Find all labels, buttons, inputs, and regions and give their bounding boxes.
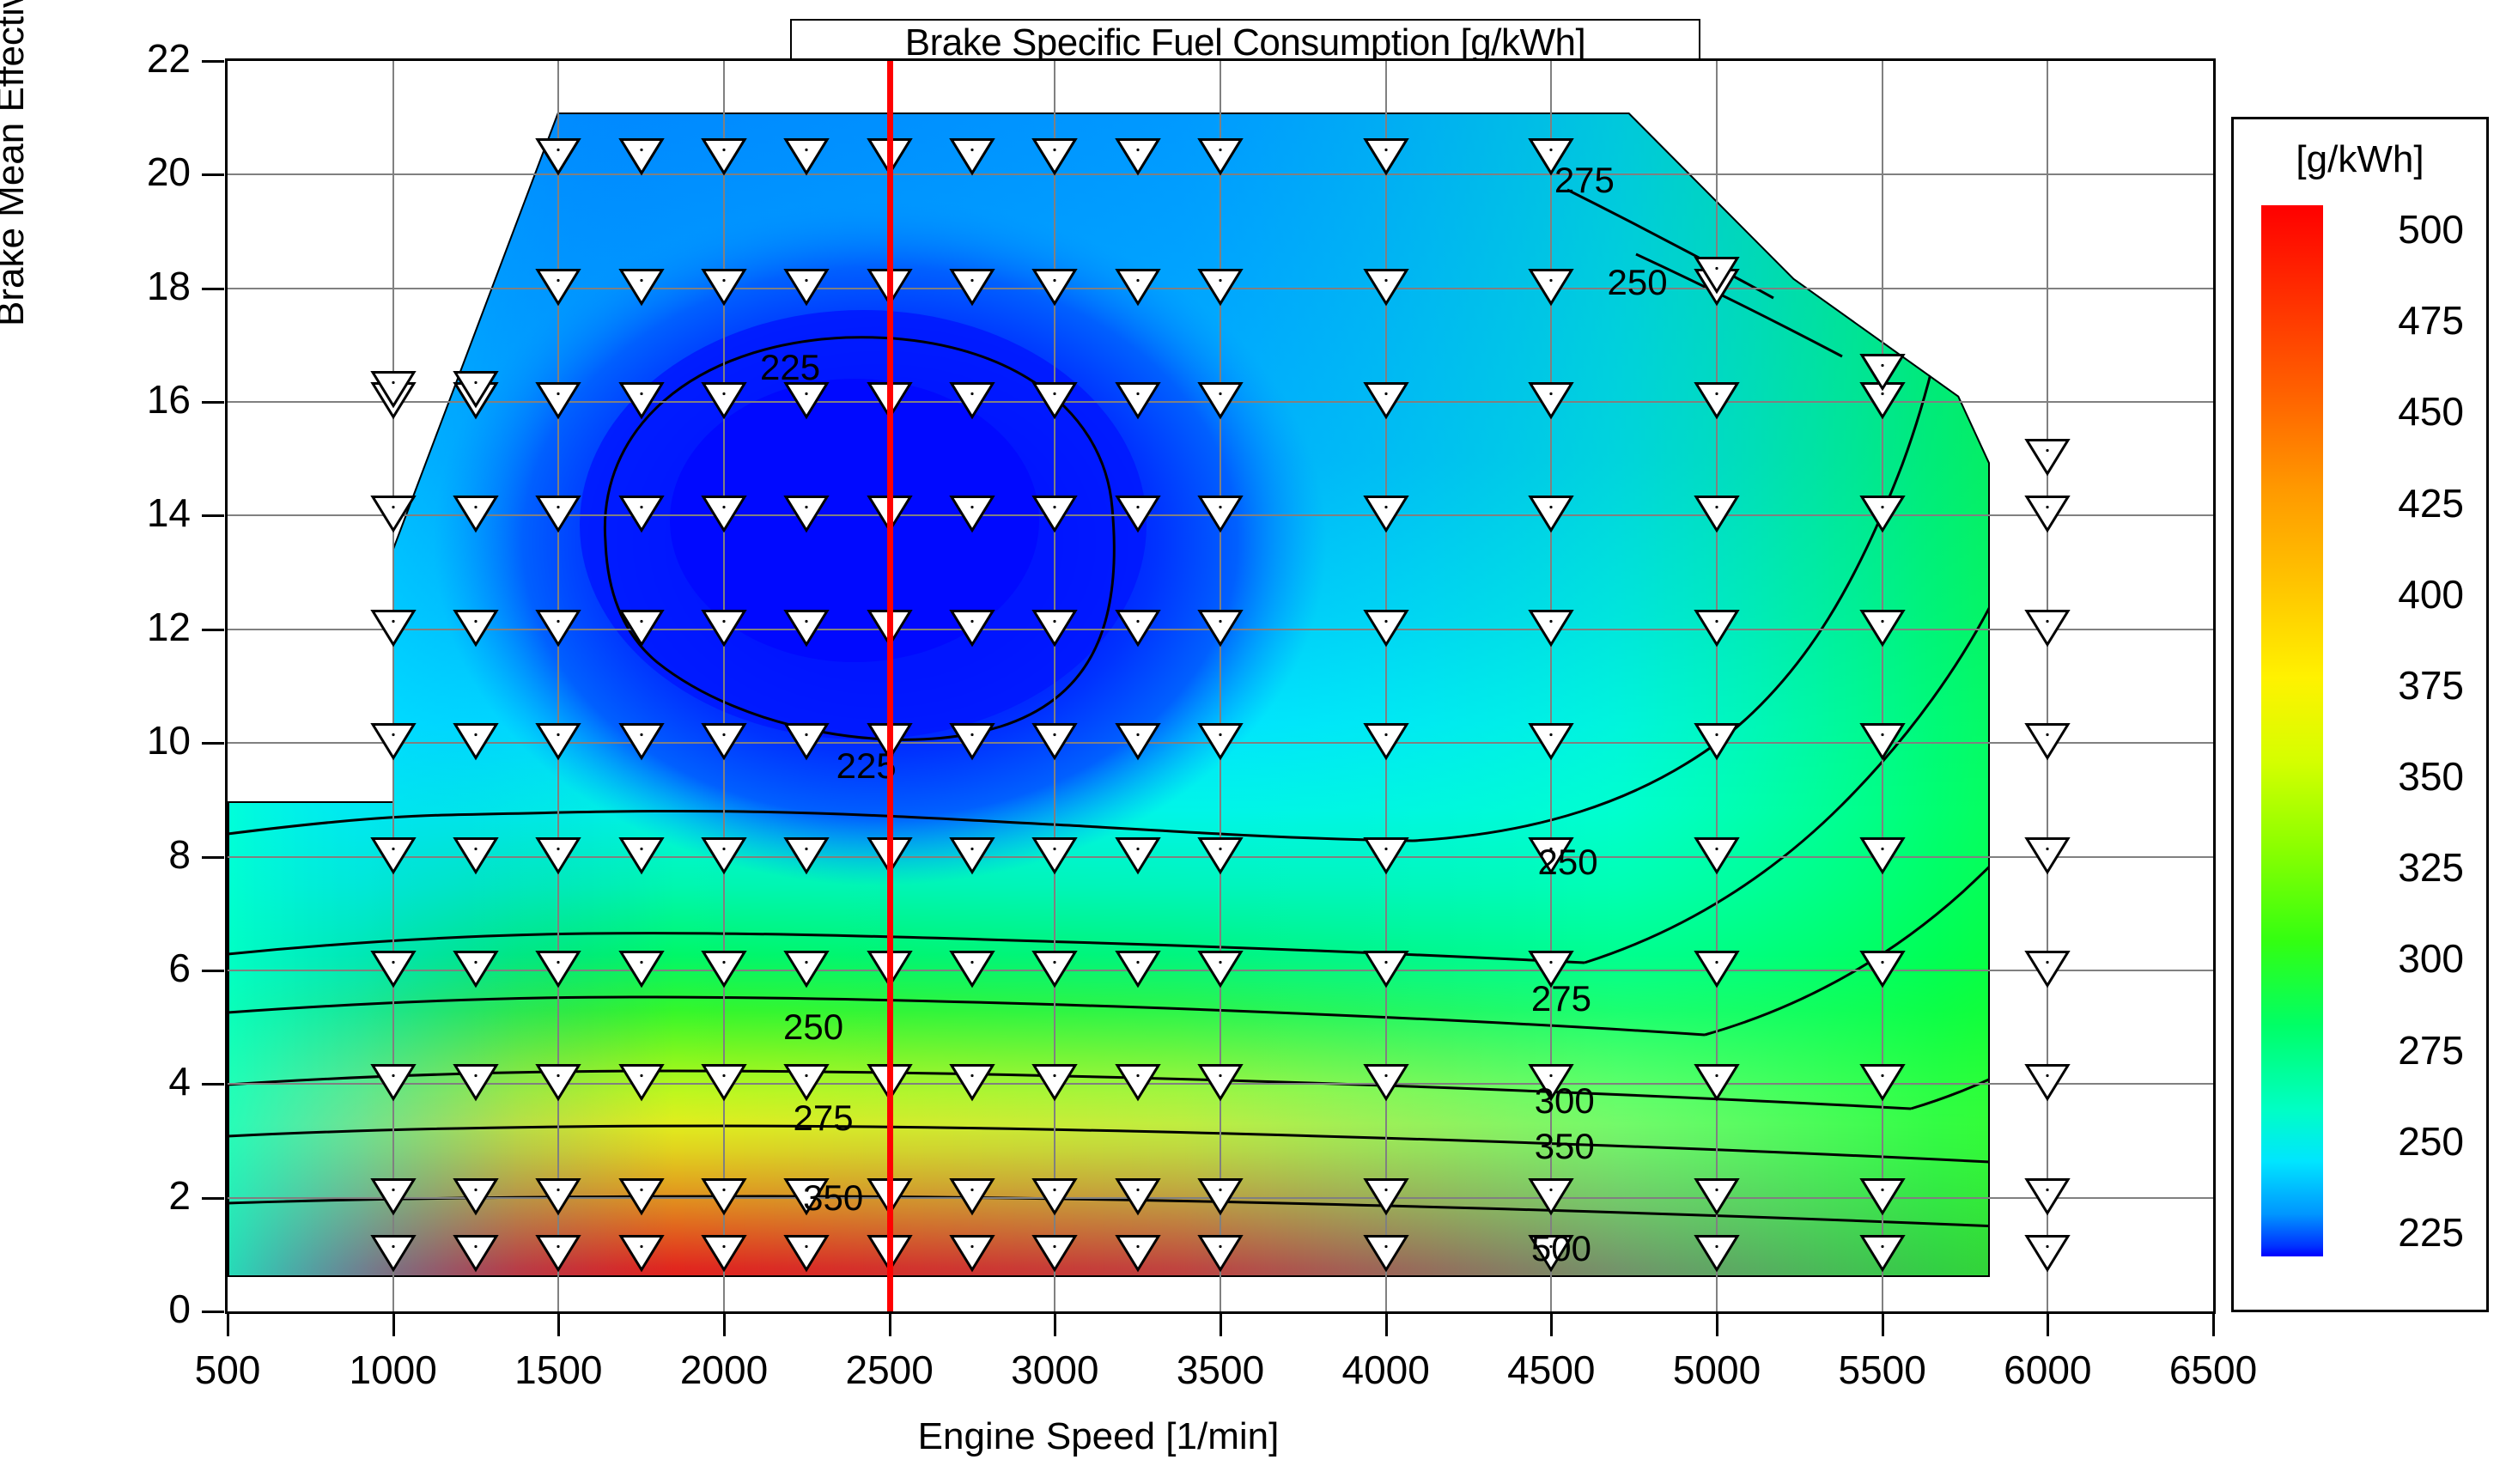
measurement-point-marker	[1197, 1062, 1244, 1106]
gridline-vertical	[1220, 61, 1221, 1311]
y-axis-tick-label: 12	[53, 604, 191, 650]
gridline-vertical	[723, 61, 725, 1311]
y-axis-tick-label: 16	[53, 376, 191, 423]
measurement-point-marker	[1528, 266, 1574, 310]
measurement-point-marker	[783, 1232, 830, 1276]
x-axis-tick	[1054, 1314, 1056, 1336]
measurement-point-marker	[1031, 948, 1078, 992]
measurement-point-marker	[1031, 380, 1078, 424]
colorbar-tick-label: 250	[2398, 1118, 2464, 1165]
measurement-point-marker	[1115, 266, 1161, 310]
measurement-point-marker	[1197, 948, 1244, 992]
y-axis-tick	[202, 514, 224, 517]
y-axis-title: Brake Mean Effective Pressure [bar]	[0, 0, 33, 326]
contour-value-label: 225	[760, 347, 820, 388]
measurement-point-marker	[783, 835, 830, 879]
measurement-point-marker	[370, 1176, 417, 1219]
measurement-point-marker	[535, 835, 581, 879]
measurement-point-marker	[1363, 1176, 1409, 1219]
engine-speed-cursor-line[interactable]	[887, 61, 893, 1311]
contour-value-label: 350	[1535, 1126, 1595, 1167]
y-axis-tick-label: 20	[53, 149, 191, 195]
x-axis-tick-label: 6000	[1953, 1347, 2142, 1393]
y-axis-tick-label: 6	[53, 945, 191, 991]
gridline-vertical	[1550, 61, 1552, 1311]
x-axis-tick-label: 2500	[795, 1347, 984, 1393]
measurement-point-marker	[370, 607, 417, 651]
x-axis-tick-label: 2000	[630, 1347, 818, 1393]
gridline-vertical	[1882, 61, 1883, 1311]
measurement-point-marker	[1694, 607, 1740, 651]
measurement-point-marker	[535, 1062, 581, 1106]
measurement-point-marker	[618, 380, 665, 424]
gridline-vertical	[1054, 61, 1055, 1311]
measurement-point-marker	[1859, 1232, 1906, 1276]
measurement-point-marker	[1115, 136, 1161, 179]
measurement-point-marker	[1197, 380, 1244, 424]
measurement-point-marker	[1031, 494, 1078, 538]
contour-value-label: 275	[1554, 160, 1615, 201]
measurement-point-marker	[1694, 494, 1740, 538]
y-axis-tick	[202, 742, 224, 745]
measurement-point-marker	[701, 1176, 747, 1219]
contour-value-label: 350	[803, 1177, 863, 1219]
measurement-point-marker	[701, 380, 747, 424]
y-axis-tick	[202, 173, 224, 176]
x-axis-tick-label: 1000	[299, 1347, 488, 1393]
measurement-point-marker	[2024, 437, 2071, 481]
y-axis-tick	[202, 1083, 224, 1086]
x-axis-tick-label: 4000	[1292, 1347, 1481, 1393]
measurement-point-marker	[1859, 948, 1906, 992]
measurement-point-marker	[1528, 1176, 1574, 1219]
measurement-point-marker	[1115, 835, 1161, 879]
x-axis-title-text: Engine Speed [1/min]	[918, 1415, 1280, 1457]
measurement-point-marker	[535, 266, 581, 310]
measurement-point-marker	[1363, 835, 1409, 879]
measurement-point-marker	[618, 721, 665, 765]
measurement-point-marker	[1528, 721, 1574, 765]
measurement-point-marker	[453, 948, 499, 992]
measurement-point-marker	[370, 494, 417, 538]
colorbar-tick-label: 375	[2398, 662, 2464, 709]
measurement-point-marker	[701, 948, 747, 992]
measurement-point-marker	[618, 948, 665, 992]
gridline-vertical	[557, 61, 559, 1311]
x-axis-tick	[1716, 1314, 1718, 1336]
y-axis-tick-label: 4	[53, 1058, 191, 1104]
measurement-point-marker	[701, 835, 747, 879]
measurement-point-marker	[701, 136, 747, 179]
y-axis-tick	[202, 856, 224, 859]
measurement-point-marker	[1528, 380, 1574, 424]
colorbar-tick-label: 475	[2398, 297, 2464, 344]
measurement-point-marker	[949, 380, 995, 424]
x-axis-tick-label: 500	[133, 1347, 322, 1393]
measurement-point-marker	[2024, 835, 2071, 879]
measurement-point-marker	[618, 1232, 665, 1276]
measurement-point-marker	[618, 136, 665, 179]
measurement-point-marker	[453, 835, 499, 879]
measurement-point-marker	[2024, 494, 2071, 538]
measurement-point-marker	[370, 1232, 417, 1276]
x-axis-tick-label: 3500	[1126, 1347, 1315, 1393]
measurement-point-marker	[783, 494, 830, 538]
colorbar-tick-label: 325	[2398, 844, 2464, 891]
measurement-point-marker	[2024, 607, 2071, 651]
x-axis-tick	[1220, 1314, 1222, 1336]
colorbar-legend[interactable]: [g/kWh] 50047545042540037535032530027525…	[2231, 117, 2489, 1312]
measurement-point-marker	[370, 835, 417, 879]
colorbar-tick-label: 275	[2398, 1027, 2464, 1073]
measurement-point-marker	[1197, 266, 1244, 310]
measurement-point-marker	[1859, 1176, 1906, 1219]
measurement-point-marker	[1031, 266, 1078, 310]
y-axis-tick	[202, 401, 224, 404]
measurement-point-marker	[1031, 1176, 1078, 1219]
measurement-point-marker	[2024, 1062, 2071, 1106]
x-axis-tick	[2047, 1314, 2049, 1336]
measurement-point-marker	[1115, 1176, 1161, 1219]
measurement-point-marker	[1694, 721, 1740, 765]
measurement-point-marker	[1031, 607, 1078, 651]
plot-inner: 225225275250250275350250275300350500	[228, 61, 2213, 1311]
measurement-point-marker	[1694, 380, 1740, 424]
measurement-point-marker	[453, 1062, 499, 1106]
colorbar-tick-label: 350	[2398, 753, 2464, 800]
measurement-point-marker	[1363, 721, 1409, 765]
y-axis-tick	[202, 629, 224, 631]
contour-value-label: 300	[1535, 1080, 1595, 1122]
measurement-point-marker	[783, 721, 830, 765]
measurement-point-marker	[1115, 607, 1161, 651]
measurement-point-marker	[1197, 835, 1244, 879]
measurement-point-marker	[701, 721, 747, 765]
measurement-point-marker	[1528, 494, 1574, 538]
contour-value-label: 250	[1607, 262, 1667, 303]
measurement-point-marker	[1031, 1232, 1078, 1276]
measurement-point-marker	[618, 1062, 665, 1106]
measurement-point-marker	[1694, 948, 1740, 992]
measurement-point-marker	[1197, 1232, 1244, 1276]
measurement-point-marker	[618, 494, 665, 538]
x-axis-tick	[1385, 1314, 1388, 1336]
measurement-point-marker	[1115, 1062, 1161, 1106]
x-axis-title: Engine Speed [1/min]	[0, 1415, 2506, 1458]
measurement-point-marker	[453, 1232, 499, 1276]
measurement-point-marker	[1197, 494, 1244, 538]
colorbar-tick-label: 450	[2398, 388, 2464, 435]
contour-value-label: 250	[1538, 842, 1598, 883]
y-axis-tick	[202, 970, 224, 972]
y-axis-tick	[202, 1197, 224, 1200]
measurement-point-marker	[1694, 1232, 1740, 1276]
measurement-point-marker	[1859, 721, 1906, 765]
measurement-point-marker	[535, 494, 581, 538]
measurement-point-marker	[370, 721, 417, 765]
x-axis-tick	[889, 1314, 891, 1336]
x-axis-tick-label: 5500	[1788, 1347, 1977, 1393]
measurement-point-marker	[453, 607, 499, 651]
measurement-point-marker	[2024, 721, 2071, 765]
measurement-point-marker	[535, 607, 581, 651]
x-axis-tick-label: 6500	[2119, 1347, 2308, 1393]
measurement-point-marker	[370, 948, 417, 992]
measurement-point-marker	[1031, 136, 1078, 179]
measurement-point-marker	[1197, 721, 1244, 765]
y-axis-tick	[202, 288, 224, 290]
y-axis-tick-label: 22	[53, 35, 191, 82]
measurement-point-marker	[2024, 948, 2071, 992]
measurement-point-marker	[701, 1232, 747, 1276]
gridline-vertical	[392, 61, 394, 1311]
measurement-point-marker	[1859, 607, 1906, 651]
measurement-point-marker	[2024, 1176, 2071, 1219]
measurement-point-marker	[701, 266, 747, 310]
x-axis-tick-label: 4500	[1457, 1347, 1645, 1393]
y-axis-tick-label: 8	[53, 831, 191, 878]
measurement-point-marker	[1694, 255, 1740, 299]
x-axis-tick-label: 5000	[1622, 1347, 1811, 1393]
measurement-point-marker	[1859, 1062, 1906, 1106]
measurement-point-marker	[535, 136, 581, 179]
x-axis-tick	[1882, 1314, 1884, 1336]
measurement-point-marker	[618, 835, 665, 879]
measurement-point-marker	[1115, 721, 1161, 765]
measurement-point-marker	[618, 266, 665, 310]
measurement-point-marker	[1197, 1176, 1244, 1219]
x-axis-tick	[723, 1314, 726, 1336]
measurement-point-marker	[1031, 1062, 1078, 1106]
contour-value-label: 500	[1531, 1228, 1591, 1269]
measurement-point-marker	[701, 494, 747, 538]
legend-title: [g/kWh]	[2234, 138, 2486, 181]
y-axis-tick-label: 2	[53, 1172, 191, 1219]
measurement-point-marker	[1197, 607, 1244, 651]
measurement-point-marker	[949, 494, 995, 538]
measurement-point-marker	[370, 1062, 417, 1106]
y-axis-tick-label: 14	[53, 490, 191, 536]
measurement-point-marker	[701, 1062, 747, 1106]
measurement-point-marker	[370, 368, 417, 412]
y-axis-tick-label: 10	[53, 717, 191, 763]
colorbar-tick-label: 400	[2398, 571, 2464, 617]
colorbar-tick-label: 225	[2398, 1209, 2464, 1256]
measurement-point-marker	[1363, 1232, 1409, 1276]
contour-value-label: 275	[794, 1098, 854, 1139]
measurement-point-marker	[1197, 136, 1244, 179]
measurement-point-marker	[453, 494, 499, 538]
measurement-point-marker	[535, 721, 581, 765]
measurement-point-marker	[535, 1232, 581, 1276]
measurement-point-marker	[453, 368, 499, 412]
measurement-point-marker	[949, 607, 995, 651]
measurement-point-marker	[1031, 721, 1078, 765]
measurement-point-marker	[1694, 1062, 1740, 1106]
measurement-point-marker	[1859, 835, 1906, 879]
measurement-point-marker	[535, 380, 581, 424]
x-axis-tick	[1550, 1314, 1553, 1336]
measurement-point-marker	[783, 607, 830, 651]
x-axis-tick	[227, 1314, 229, 1336]
measurement-point-marker	[1031, 835, 1078, 879]
y-axis-tick	[202, 60, 224, 63]
measurement-point-marker	[1363, 266, 1409, 310]
measurement-point-marker	[1694, 1176, 1740, 1219]
measurement-point-marker	[1115, 1232, 1161, 1276]
measurement-point-marker	[1115, 380, 1161, 424]
measurement-point-marker	[1363, 136, 1409, 179]
measurement-point-marker	[783, 948, 830, 992]
measurement-point-marker	[783, 136, 830, 179]
colorbar-gradient	[2261, 205, 2323, 1256]
gridline-vertical	[1716, 61, 1718, 1311]
measurement-point-marker	[1363, 948, 1409, 992]
contour-value-label: 275	[1531, 978, 1591, 1019]
x-axis-tick-label: 3000	[960, 1347, 1149, 1393]
measurement-point-marker	[1115, 948, 1161, 992]
measurement-point-marker	[1528, 607, 1574, 651]
measurement-point-marker	[949, 948, 995, 992]
y-axis-tick-label: 18	[53, 263, 191, 309]
measurement-point-marker	[453, 1176, 499, 1219]
measurement-point-marker	[618, 1176, 665, 1219]
measurement-point-marker	[949, 136, 995, 179]
measurement-point-marker	[1859, 494, 1906, 538]
measurement-point-marker	[949, 835, 995, 879]
x-axis-tick-label: 1500	[464, 1347, 653, 1393]
measurement-point-marker	[453, 721, 499, 765]
x-axis-tick	[557, 1314, 560, 1336]
y-axis-tick-label: 0	[53, 1286, 191, 1332]
measurement-point-marker	[949, 266, 995, 310]
gridline-vertical	[1385, 61, 1387, 1311]
x-axis-tick	[2212, 1314, 2215, 1336]
measurement-point-marker	[949, 1062, 995, 1106]
colorbar-tick-label: 500	[2398, 206, 2464, 252]
x-axis-tick	[392, 1314, 395, 1336]
colorbar-tick-label: 425	[2398, 480, 2464, 526]
measurement-point-marker	[949, 1176, 995, 1219]
plot-area[interactable]: 225225275250250275350250275300350500	[225, 58, 2216, 1314]
contour-value-label: 250	[783, 1007, 843, 1048]
measurement-point-marker	[2024, 1232, 2071, 1276]
gridline-vertical	[2047, 61, 2048, 1311]
measurement-point-marker	[1115, 494, 1161, 538]
measurement-point-marker	[1363, 380, 1409, 424]
measurement-point-marker	[1363, 607, 1409, 651]
measurement-point-marker	[1363, 1062, 1409, 1106]
measurement-point-marker	[1363, 494, 1409, 538]
measurement-point-marker	[618, 607, 665, 651]
measurement-point-marker	[701, 607, 747, 651]
measurement-point-marker	[1859, 352, 1906, 396]
measurement-point-marker	[949, 721, 995, 765]
measurement-point-marker	[783, 266, 830, 310]
measurement-point-marker	[535, 1176, 581, 1219]
measurement-point-marker	[1694, 835, 1740, 879]
y-axis-tick	[202, 1311, 224, 1313]
measurement-point-marker	[535, 948, 581, 992]
measurement-point-marker	[949, 1232, 995, 1276]
colorbar-tick-label: 300	[2398, 935, 2464, 982]
